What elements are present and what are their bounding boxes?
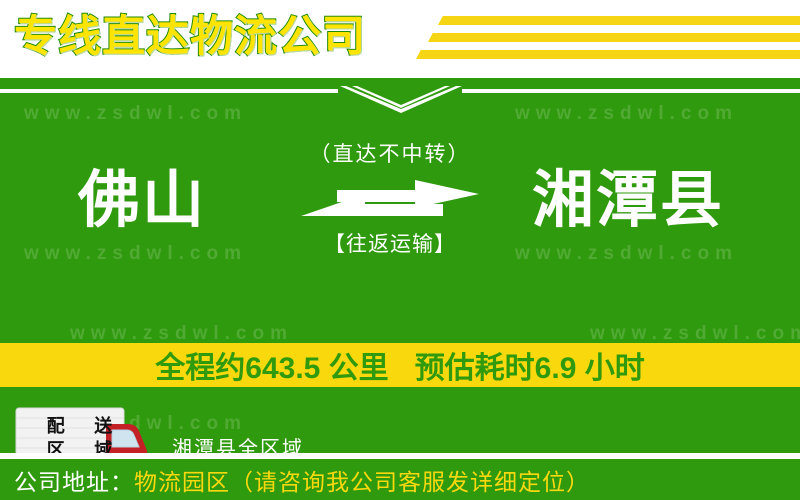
watermark: www.zsdwl.com xyxy=(515,243,738,265)
truck-box-text: 配 送 区 域 xyxy=(32,414,127,453)
stripe-1 xyxy=(438,16,800,25)
stripe-3 xyxy=(416,50,800,59)
logistics-banner: 专线直达物流公司 www.zsdwl.com www.zsdwl.com www… xyxy=(0,0,800,500)
delivery-truck-icon: 配 送 区 域 xyxy=(10,404,160,453)
footer-address-bar: 公司地址： 物流园区（请咨询我公司客服发详细定位） xyxy=(0,459,800,500)
watermark: www.zsdwl.com xyxy=(515,103,738,125)
chevron-down-icon xyxy=(326,86,476,116)
page-title: 专线直达物流公司 xyxy=(14,6,366,68)
banner-header: 专线直达物流公司 xyxy=(0,0,800,78)
distance-value: 全程约643.5 公里 xyxy=(155,352,388,385)
stats-text: 全程约643.5 公里预估耗时6.9 小时 xyxy=(155,343,644,387)
watermark: www.zsdwl.com xyxy=(24,243,247,265)
route-note-top: （直达不中转） xyxy=(280,138,500,168)
route-panel: www.zsdwl.com www.zsdwl.com www.zsdwl.co… xyxy=(0,78,800,453)
divider-line-left xyxy=(0,89,338,93)
destination-city: 湘潭县 xyxy=(532,168,724,234)
truck-char-4: 域 xyxy=(94,441,112,453)
duration-value: 预估耗时6.9 小时 xyxy=(415,352,645,385)
address-label: 公司地址： xyxy=(14,463,134,497)
origin-city: 佛山 xyxy=(78,168,206,234)
watermark: www.zsdwl.com xyxy=(590,323,800,345)
watermark: www.zsdwl.com xyxy=(24,103,247,125)
route-note-bottom: 【往返运输】 xyxy=(280,228,500,258)
divider-line-right xyxy=(462,89,800,93)
coverage-text: 湘潭县全区域 xyxy=(172,432,304,453)
truck-char-3: 区 xyxy=(47,441,65,453)
decorative-stripes xyxy=(420,16,800,66)
truck-char-2: 送 xyxy=(94,417,112,435)
route-center-block: （直达不中转） 【往返运输】 xyxy=(280,138,500,258)
delivery-row: 配 送 区 域 湘潭县全区域 xyxy=(0,404,800,453)
truck-char-1: 配 xyxy=(47,417,65,435)
address-value: 物流园区（请咨询我公司客服发详细定位） xyxy=(134,463,590,497)
bidirectional-arrow-icon xyxy=(280,180,500,222)
route-stats-bar: 全程约643.5 公里预估耗时6.9 小时 xyxy=(0,343,800,387)
stripe-2 xyxy=(428,33,800,42)
watermark: www.zsdwl.com xyxy=(70,323,293,345)
